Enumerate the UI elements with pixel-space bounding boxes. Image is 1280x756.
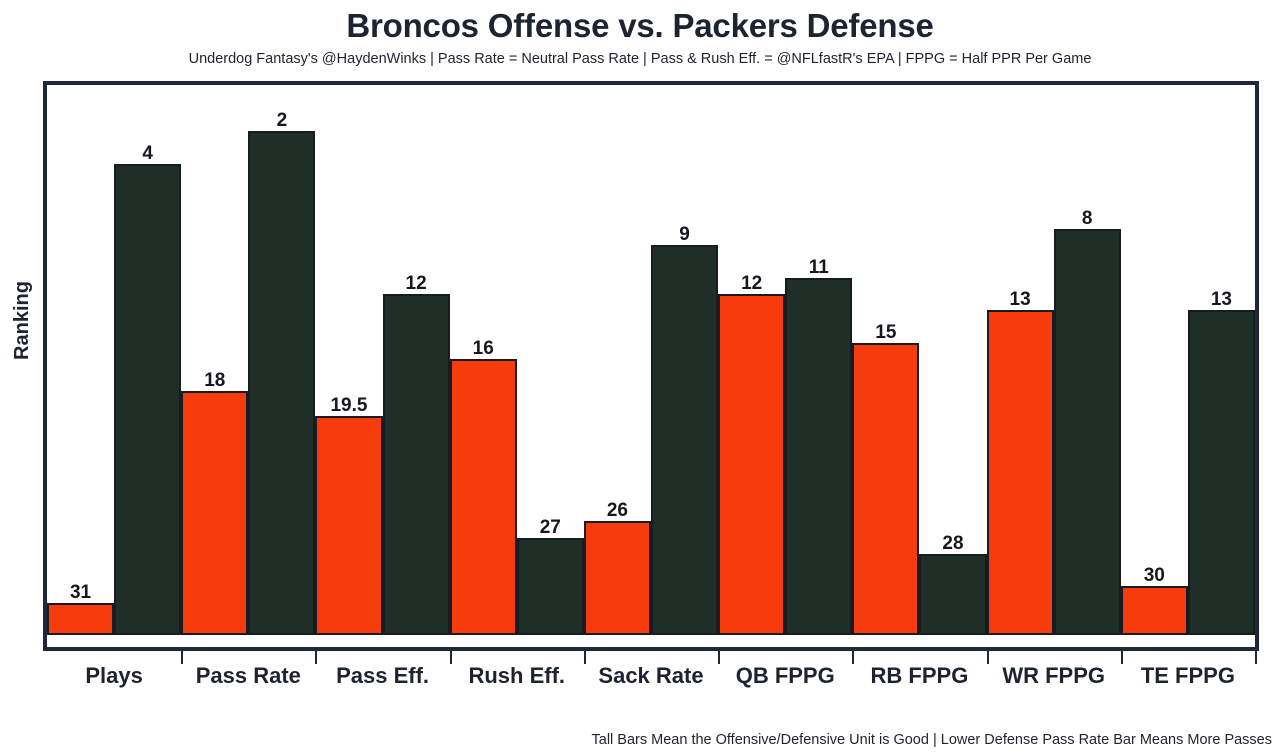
bar-group-rush-eff: 1627 xyxy=(450,85,584,647)
x-axis-label-pass-eff: Pass Eff. xyxy=(336,663,429,689)
bar-pair: 314 xyxy=(47,73,181,647)
bar-defense[interactable]: 4 xyxy=(114,164,181,635)
bar-pair: 1211 xyxy=(718,73,852,647)
bar-offense[interactable]: 15 xyxy=(852,343,919,636)
bar-rect[interactable]: 28 xyxy=(919,554,986,635)
bar-pair: 1627 xyxy=(450,73,584,647)
x-axis-label-wr-fppg: WR FPPG xyxy=(1002,663,1105,689)
bar-value-label: 2 xyxy=(277,111,288,131)
bar-defense[interactable]: 11 xyxy=(785,278,852,636)
x-axis-tick xyxy=(450,651,452,664)
bar-offense[interactable]: 12 xyxy=(718,294,785,635)
bar-group-sack-rate: 269 xyxy=(584,85,718,647)
bar-value-label: 28 xyxy=(942,534,963,554)
bar-offense[interactable]: 18 xyxy=(181,391,248,635)
bar-group-wr-fppg: 138 xyxy=(987,85,1121,647)
bar-group-rb-fppg: 1528 xyxy=(852,85,986,647)
x-axis-label-plays: Plays xyxy=(85,663,143,689)
bar-pair: 3013 xyxy=(1121,73,1255,647)
bar-value-label: 19.5 xyxy=(330,396,367,416)
x-axis-label-rb-fppg: RB FPPG xyxy=(871,663,969,689)
bar-pair: 19.512 xyxy=(315,73,449,647)
bar-rect[interactable]: 4 xyxy=(114,164,181,635)
bar-value-label: 13 xyxy=(1010,290,1031,310)
bar-rect[interactable]: 27 xyxy=(517,538,584,636)
x-axis-tick xyxy=(181,651,183,664)
bar-group-te-fppg: 3013 xyxy=(1121,85,1255,647)
x-axis-label-te-fppg: TE FPPG xyxy=(1141,663,1235,689)
x-axis-label-pass-rate: Pass Rate xyxy=(196,663,301,689)
bar-rect[interactable]: 2 xyxy=(248,131,315,635)
bar-rect[interactable]: 13 xyxy=(987,310,1054,635)
plot-area: 31418219.5121627269121115281383013 xyxy=(43,81,1259,651)
x-axis-tick xyxy=(987,651,989,664)
bar-rect[interactable]: 12 xyxy=(383,294,450,635)
bar-offense[interactable]: 30 xyxy=(1121,586,1188,635)
x-axis-tick xyxy=(852,651,854,664)
bar-rect[interactable]: 19.5 xyxy=(315,416,382,635)
bar-rect[interactable]: 13 xyxy=(1188,310,1255,635)
bar-rect[interactable]: 16 xyxy=(450,359,517,635)
bar-defense[interactable]: 9 xyxy=(651,245,718,635)
x-axis-tick xyxy=(584,651,586,664)
x-axis-tick xyxy=(1121,651,1123,664)
bar-rect[interactable]: 9 xyxy=(651,245,718,635)
bar-group-pass-rate: 182 xyxy=(181,85,315,647)
page-title: Broncos Offense vs. Packers Defense xyxy=(0,0,1280,47)
bar-value-label: 15 xyxy=(875,323,896,343)
bar-rect[interactable]: 8 xyxy=(1054,229,1121,635)
bar-defense[interactable]: 13 xyxy=(1188,310,1255,635)
bar-rect[interactable]: 12 xyxy=(718,294,785,635)
bar-rect[interactable]: 26 xyxy=(584,521,651,635)
bar-pair: 138 xyxy=(987,73,1121,647)
bar-value-label: 12 xyxy=(406,274,427,294)
bar-defense[interactable]: 27 xyxy=(517,538,584,636)
chart-footnote: Tall Bars Mean the Offensive/Defensive U… xyxy=(592,732,1272,748)
bar-value-label: 9 xyxy=(679,225,690,245)
bar-pair: 182 xyxy=(181,73,315,647)
bar-group-qb-fppg: 1211 xyxy=(718,85,852,647)
bar-rect[interactable]: 11 xyxy=(785,278,852,636)
bar-value-label: 30 xyxy=(1144,566,1165,586)
x-axis-tick xyxy=(315,651,317,664)
bar-offense[interactable]: 16 xyxy=(450,359,517,635)
x-axis-tick xyxy=(1255,651,1257,664)
bar-rect[interactable]: 15 xyxy=(852,343,919,636)
chart-subtitle: Underdog Fantasy's @HaydenWinks | Pass R… xyxy=(0,47,1280,68)
bar-offense[interactable]: 31 xyxy=(47,603,114,636)
bar-rect[interactable]: 31 xyxy=(47,603,114,636)
y-axis-label: Ranking xyxy=(2,0,42,640)
x-axis-tick xyxy=(718,651,720,664)
bar-group-pass-eff: 19.512 xyxy=(315,85,449,647)
bar-rect[interactable]: 18 xyxy=(181,391,248,635)
bar-value-label: 11 xyxy=(809,258,829,278)
bar-group-plays: 314 xyxy=(47,85,181,647)
bar-value-label: 4 xyxy=(142,144,153,164)
bar-rect[interactable]: 30 xyxy=(1121,586,1188,635)
x-axis: PlaysPass RatePass Eff.Rush Eff.Sack Rat… xyxy=(43,651,1259,699)
bar-value-label: 8 xyxy=(1082,209,1093,229)
bar-offense[interactable]: 13 xyxy=(987,310,1054,635)
bar-value-label: 31 xyxy=(70,583,91,603)
bar-value-label: 18 xyxy=(204,371,225,391)
x-axis-label-sack-rate: Sack Rate xyxy=(598,663,703,689)
bar-defense[interactable]: 2 xyxy=(248,131,315,635)
bar-offense[interactable]: 26 xyxy=(584,521,651,635)
bars-container: 31418219.5121627269121115281383013 xyxy=(47,85,1255,647)
bar-defense[interactable]: 8 xyxy=(1054,229,1121,635)
y-axis-label-text: Ranking xyxy=(11,281,34,360)
bar-value-label: 27 xyxy=(540,518,561,538)
bar-value-label: 12 xyxy=(741,274,762,294)
bar-offense[interactable]: 19.5 xyxy=(315,416,382,635)
bar-pair: 1528 xyxy=(852,73,986,647)
bar-pair: 269 xyxy=(584,73,718,647)
bar-value-label: 26 xyxy=(607,501,628,521)
bar-defense[interactable]: 12 xyxy=(383,294,450,635)
x-axis-label-rush-eff: Rush Eff. xyxy=(468,663,565,689)
bar-value-label: 13 xyxy=(1211,290,1232,310)
x-axis-label-qb-fppg: QB FPPG xyxy=(736,663,835,689)
bar-value-label: 16 xyxy=(473,339,494,359)
bar-defense[interactable]: 28 xyxy=(919,554,986,635)
